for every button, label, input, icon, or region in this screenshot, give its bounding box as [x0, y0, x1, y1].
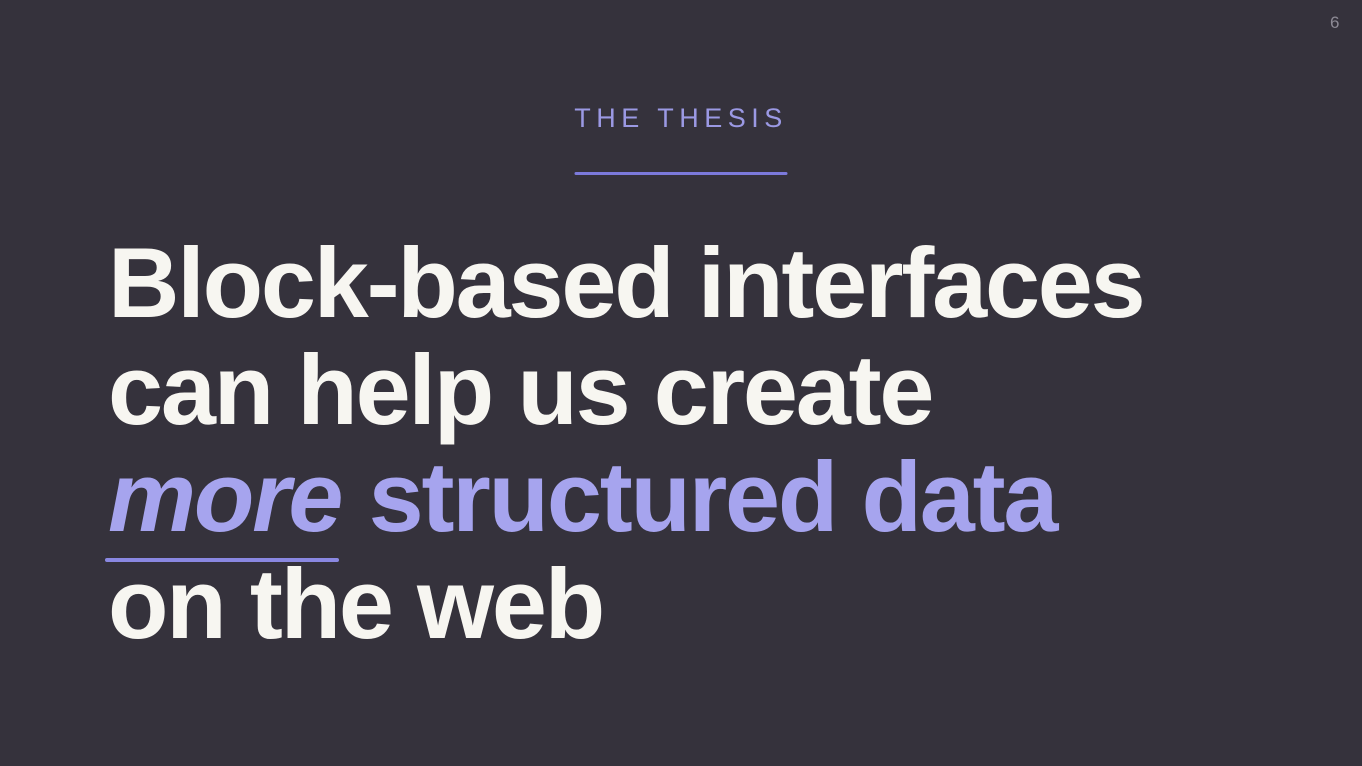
eyebrow-label: THE THESIS: [574, 104, 788, 134]
slide-root: 6 THE THESIS Block-based interfaces can …: [0, 0, 1362, 766]
headline-line-3-rest: structured data: [343, 441, 1056, 552]
headline-line-1: Block-based interfaces: [108, 229, 1288, 336]
eyebrow-divider-rule: [575, 172, 788, 175]
headline-line-4: on the web: [108, 550, 1288, 657]
headline-line-2: can help us create: [108, 336, 1288, 443]
page-number: 6: [1330, 14, 1340, 31]
headline-emphasis-word: more: [108, 443, 343, 550]
eyebrow-section: THE THESIS: [0, 104, 1362, 134]
headline-emphasis-word-text: more: [108, 441, 341, 552]
headline-line-3: more structured data: [108, 443, 1288, 550]
headline-block: Block-based interfaces can help us creat…: [108, 229, 1288, 657]
